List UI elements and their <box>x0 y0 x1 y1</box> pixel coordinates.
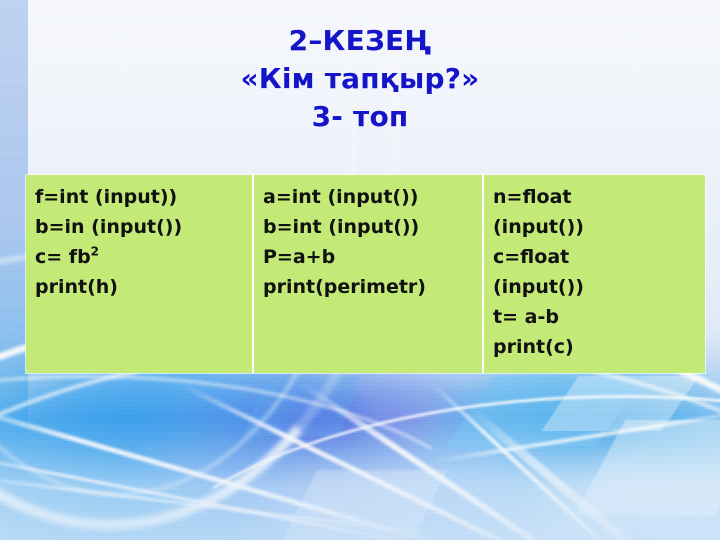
code-line: print(perimetr) <box>263 272 482 302</box>
code-table-cell-2: a=int (input())b=int (input())P=a+bprint… <box>252 175 482 373</box>
code-line: t= a-b <box>493 302 705 332</box>
title-line-2: «Кім тапқыр?» <box>0 60 720 98</box>
code-line: print(h) <box>35 272 252 302</box>
code-line: print(c) <box>493 332 705 362</box>
code-line: c= fb2 <box>35 242 252 272</box>
code-line: (input()) <box>493 272 705 302</box>
code-table: f=int (input))b=in (input())c= fb2print(… <box>26 175 705 373</box>
code-line: n=float <box>493 182 705 212</box>
code-line: b=int (input()) <box>263 212 482 242</box>
code-table-cell-1: f=int (input))b=in (input())c= fb2print(… <box>26 175 252 373</box>
slide-canvas: 2–КЕЗЕҢ «Кім тапқыр?» 3- топ f=int (inpu… <box>0 0 720 540</box>
code-line: P=a+b <box>263 242 482 272</box>
code-line: (input()) <box>493 212 705 242</box>
code-line: f=int (input)) <box>35 182 252 212</box>
title-line-1: 2–КЕЗЕҢ <box>0 22 720 60</box>
code-line: c=float <box>493 242 705 272</box>
code-line: b=in (input()) <box>35 212 252 242</box>
code-line: a=int (input()) <box>263 182 482 212</box>
title-line-3: 3- топ <box>0 98 720 136</box>
slide-title: 2–КЕЗЕҢ «Кім тапқыр?» 3- топ <box>0 22 720 136</box>
code-table-cell-3: n=float(input())c=float(input())t= a-bpr… <box>482 175 705 373</box>
code-line-superscript: 2 <box>91 245 99 259</box>
